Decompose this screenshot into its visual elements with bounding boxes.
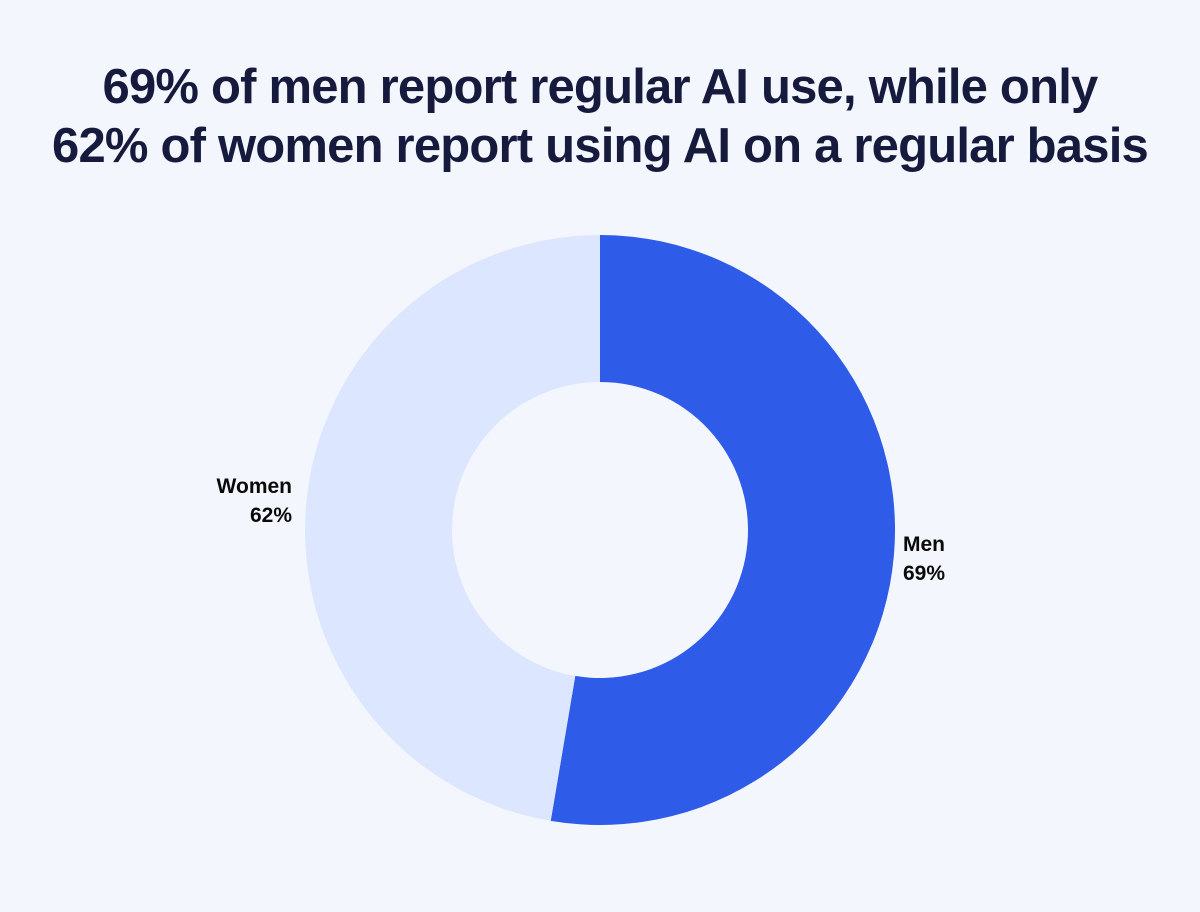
slice-label-women-value: 62% [217,501,292,530]
donut-slices [305,235,895,825]
chart-canvas: 69% of men report regular AI use, while … [0,0,1200,912]
donut-chart-svg [0,0,1200,912]
donut-slice-men[interactable] [551,235,895,825]
slice-label-women: Women 62% [217,472,292,530]
slice-label-men-value: 69% [903,559,945,588]
donut-chart [0,0,1200,912]
slice-label-women-name: Women [217,475,292,498]
slice-label-men-name: Men [903,533,945,556]
slice-label-men: Men 69% [903,530,945,588]
donut-slice-women[interactable] [305,235,600,821]
